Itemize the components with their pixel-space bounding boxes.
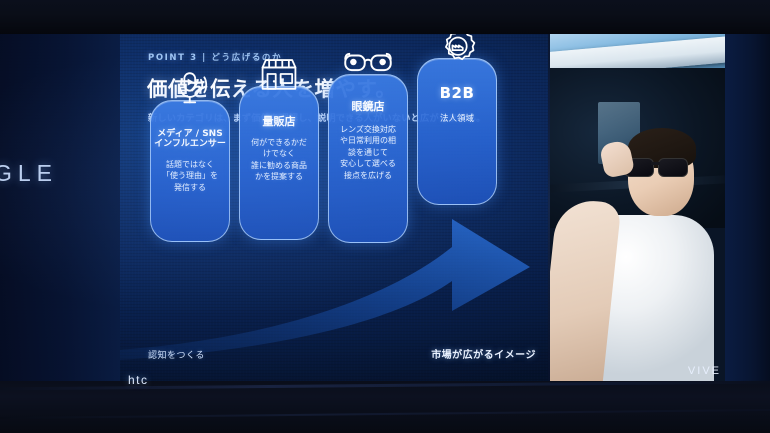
- card-eyewear-store: 眼鏡店 レンズ交換対応 や日常利用の相 談を通じて 安心して選べる 接点を広げる: [328, 74, 408, 243]
- card-body: 法人領域: [440, 113, 474, 125]
- vive-watermark: VIVE: [688, 365, 721, 377]
- right-wall: [725, 28, 770, 383]
- card-title: メディア / SNS インフルエンサー: [154, 129, 226, 150]
- photo-glasses-lens-right: [658, 158, 688, 177]
- photo-glasses-bridge: [651, 162, 660, 165]
- htc-logo: htc: [128, 373, 149, 387]
- wall-brand-text: GLE: [0, 160, 104, 187]
- card-title: B2B: [440, 85, 475, 102]
- footer-label-left: 認知をつくる: [148, 348, 205, 361]
- card-mass-retailer: 量販店 何ができるかだ けでなく 誰に勧める商品 かを提案する: [239, 86, 319, 240]
- card-body: 話題ではなく 「使う理由」を 発信する: [157, 159, 223, 194]
- photo-smart-glasses: [624, 158, 690, 175]
- footer-label-right: 市場が広がるイメージ: [431, 346, 536, 361]
- glasses-icon: [342, 46, 394, 78]
- card-title: 量販店: [263, 116, 296, 129]
- card-body: 何ができるかだ けでなく 誰に勧める商品 かを提案する: [247, 137, 311, 183]
- microphone-play-icon: [171, 69, 211, 109]
- ceiling-sheen: [0, 0, 770, 22]
- card-body: レンズ交換対応 や日常利用の相 談を通じて 安心して選べる 接点を広げる: [336, 124, 400, 182]
- display-top-bezel: [0, 0, 770, 34]
- card-b2b: B2B 法人領域: [417, 58, 497, 205]
- storefront-icon: [256, 54, 302, 94]
- card-title: 眼鏡店: [352, 101, 385, 114]
- left-wall: [0, 28, 120, 383]
- card-media-sns-influencer: メディア / SNS インフルエンサー 話題ではなく 「使う理由」を 発信する: [150, 100, 230, 242]
- slide-content: POINT 3 | どう広げるのか 価値を伝える人を増やす。 新しいカテゴリは、…: [120, 28, 550, 383]
- photo-man-wearing-smart-glasses: VIVE: [550, 30, 725, 383]
- screenshot-root: GLE POINT 3 | どう広げるのか 価値を伝える人を増やす。 新しいカテ…: [0, 0, 770, 433]
